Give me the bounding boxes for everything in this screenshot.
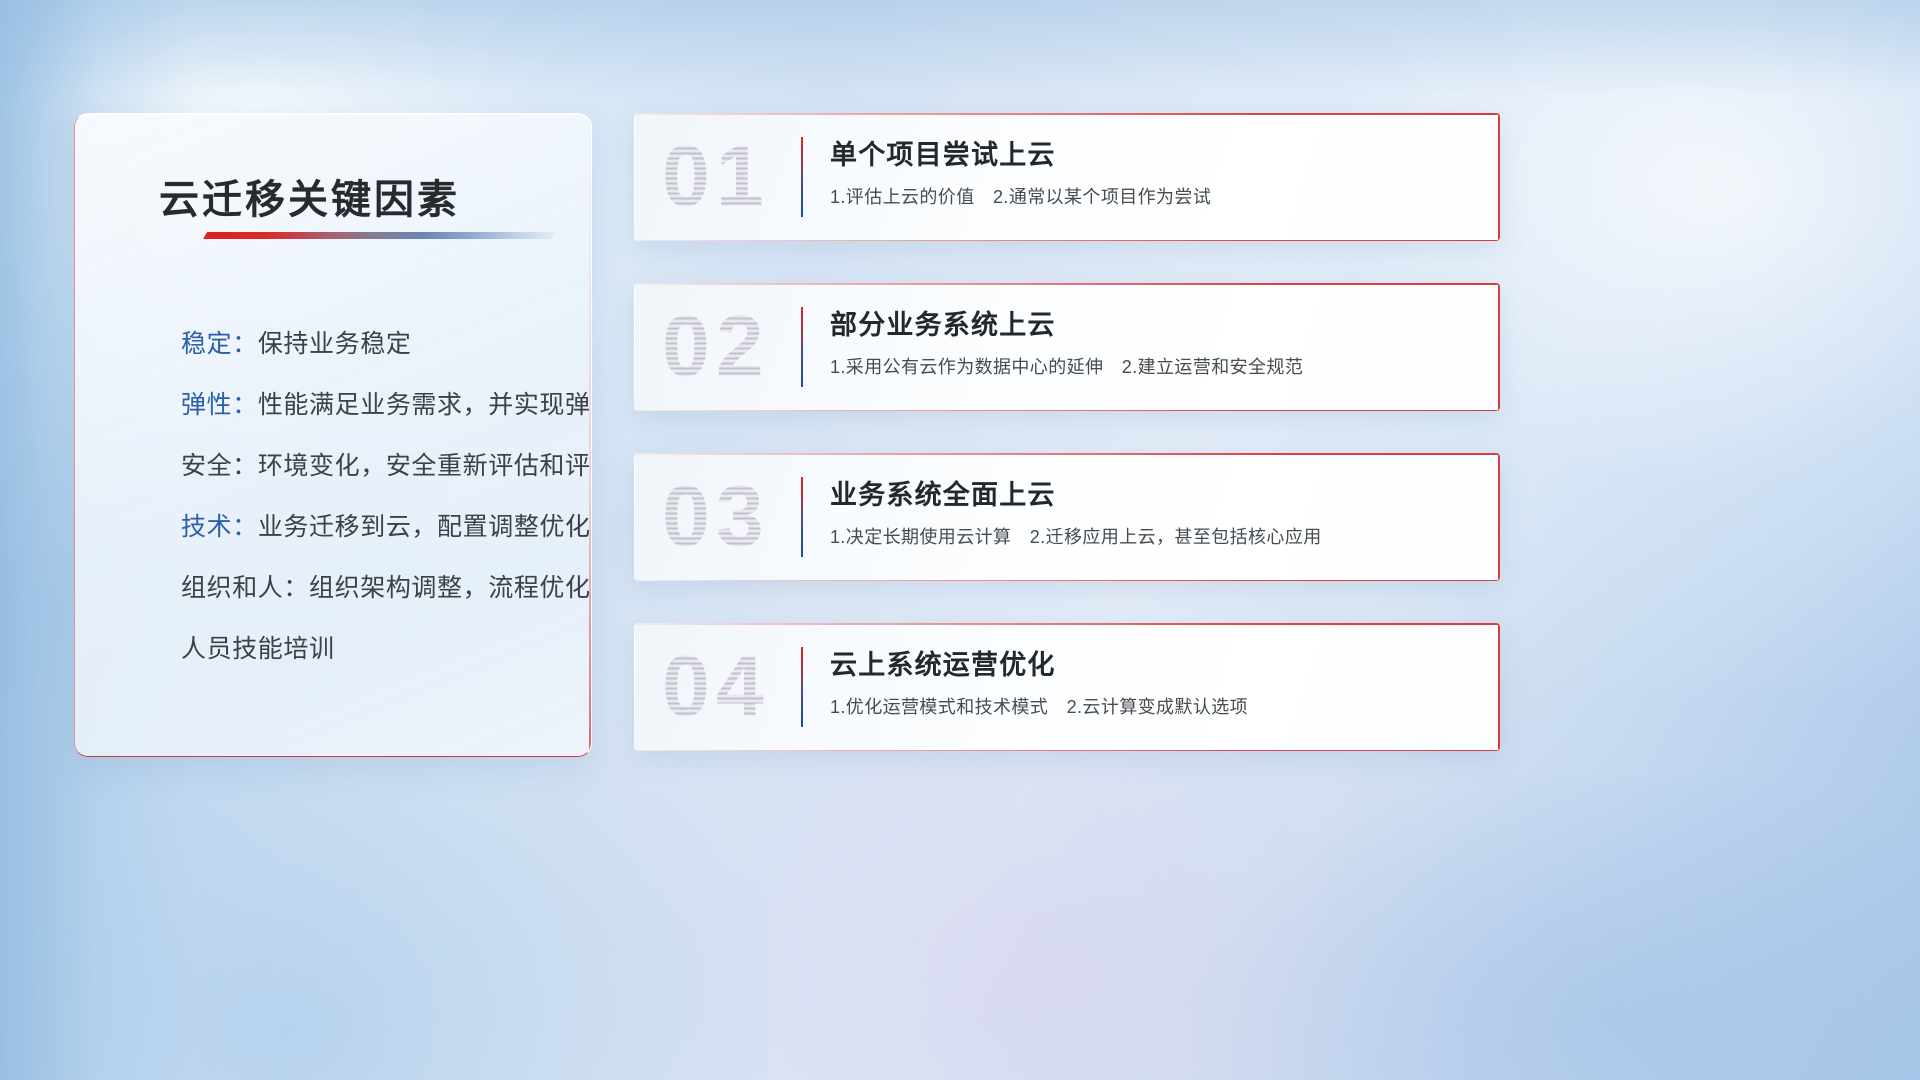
factor-label: 技术：	[181, 513, 258, 541]
step-card[interactable]: 0303业务系统全面上云1.决定长期使用云计算 2.迁移应用上云，甚至包括核心应…	[634, 453, 1500, 581]
step-title: 云上系统运营优化	[830, 645, 1476, 685]
step-number-watermark: 04	[662, 638, 770, 737]
step-body: 业务系统全面上云1.决定长期使用云计算 2.迁移应用上云，甚至包括核心应用	[830, 475, 1476, 550]
title-underline-rule	[203, 232, 555, 239]
card-edge-right	[1498, 113, 1500, 241]
key-factors-panel: 云迁移关键因素 稳定：保持业务稳定弹性：性能满足业务需求，并实现弹性安全：环境变…	[74, 113, 592, 757]
card-edge-right	[1498, 453, 1500, 581]
step-title: 业务系统全面上云	[830, 475, 1476, 515]
step-divider-bar	[801, 307, 803, 387]
card-edge-top	[634, 283, 1500, 285]
card-edge-bottom	[634, 580, 1500, 582]
step-divider-bar	[801, 137, 803, 217]
step-divider-bar	[801, 647, 803, 727]
card-edge-left-highlight	[634, 113, 635, 241]
panel-title: 云迁移关键因素	[159, 167, 460, 225]
factor-label: 稳定：	[181, 330, 258, 358]
card-edge-left-highlight	[634, 453, 635, 581]
step-description: 1.优化运营模式和技术模式 2.云计算变成默认选项	[830, 694, 1476, 720]
factor-label: 组织和人：	[181, 574, 309, 602]
step-card[interactable]: 0101单个项目尝试上云1.评估上云的价值 2.通常以某个项目作为尝试	[634, 113, 1500, 241]
step-card[interactable]: 0404云上系统运营优化1.优化运营模式和技术模式 2.云计算变成默认选项	[634, 623, 1500, 751]
card-edge-left-highlight	[634, 623, 635, 751]
step-title: 部分业务系统上云	[830, 305, 1476, 345]
card-edge-right	[1498, 283, 1500, 411]
factor-row: 技术：业务迁移到云，配置调整优化	[181, 497, 581, 558]
step-number-watermark: 02	[662, 298, 770, 397]
factor-row: 稳定：保持业务稳定	[181, 314, 581, 375]
factor-value: 环境变化，安全重新评估和评审	[258, 452, 592, 480]
card-edge-top	[634, 623, 1500, 625]
step-title: 单个项目尝试上云	[830, 135, 1476, 175]
step-description: 1.评估上云的价值 2.通常以某个项目作为尝试	[830, 184, 1476, 210]
step-description: 1.决定长期使用云计算 2.迁移应用上云，甚至包括核心应用	[830, 524, 1476, 550]
factor-value: 保持业务稳定	[258, 330, 412, 358]
step-body: 部分业务系统上云1.采用公有云作为数据中心的延伸 2.建立运营和安全规范	[830, 305, 1476, 380]
card-edge-top	[634, 453, 1500, 455]
card-edge-right	[1498, 623, 1500, 751]
factor-value: 组织架构调整，流程优化，	[309, 574, 592, 602]
factor-label: 安全：	[181, 452, 258, 480]
factor-value: 业务迁移到云，配置调整优化	[258, 513, 591, 541]
factor-list: 稳定：保持业务稳定弹性：性能满足业务需求，并实现弹性安全：环境变化，安全重新评估…	[181, 314, 581, 680]
card-edge-bottom	[634, 750, 1500, 752]
step-body: 单个项目尝试上云1.评估上云的价值 2.通常以某个项目作为尝试	[830, 135, 1476, 210]
step-number-watermark: 01	[662, 128, 770, 227]
card-edge-top	[634, 113, 1500, 115]
step-body: 云上系统运营优化1.优化运营模式和技术模式 2.云计算变成默认选项	[830, 645, 1476, 720]
slide-content: 云迁移关键因素 稳定：保持业务稳定弹性：性能满足业务需求，并实现弹性安全：环境变…	[0, 0, 1920, 1080]
migration-steps-list: 0101单个项目尝试上云1.评估上云的价值 2.通常以某个项目作为尝试0202部…	[634, 113, 1500, 793]
factor-row: 组织和人：组织架构调整，流程优化，	[181, 558, 581, 619]
factor-value: 性能满足业务需求，并实现弹性	[258, 391, 592, 419]
step-description: 1.采用公有云作为数据中心的延伸 2.建立运营和安全规范	[830, 354, 1476, 380]
card-edge-left-highlight	[634, 283, 635, 411]
step-number-watermark: 03	[662, 468, 770, 567]
factor-continuation: 人员技能培训	[181, 619, 581, 680]
factor-row: 安全：环境变化，安全重新评估和评审	[181, 436, 581, 497]
factor-label: 弹性：	[181, 391, 258, 419]
step-card[interactable]: 0202部分业务系统上云1.采用公有云作为数据中心的延伸 2.建立运营和安全规范	[634, 283, 1500, 411]
card-edge-bottom	[634, 410, 1500, 412]
card-edge-bottom	[634, 240, 1500, 242]
factor-row: 弹性：性能满足业务需求，并实现弹性	[181, 375, 581, 436]
step-divider-bar	[801, 477, 803, 557]
